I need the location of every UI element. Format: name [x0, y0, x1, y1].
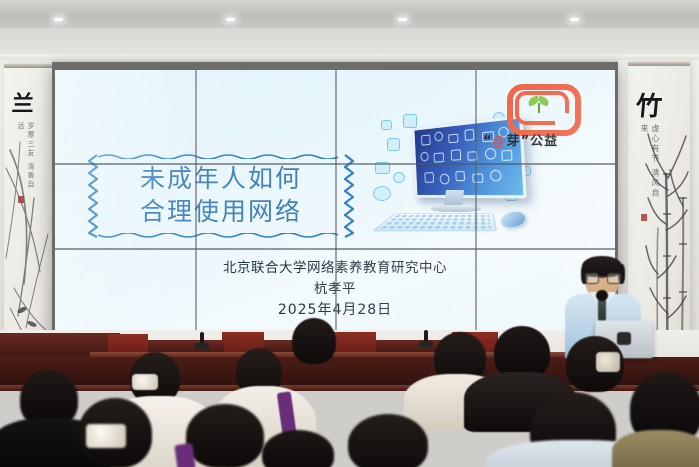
audience-head — [186, 404, 264, 467]
led-video-wall[interactable]: 未成年人如何 合理使用网络 — [55, 70, 615, 335]
hair-clip — [132, 374, 158, 390]
seal-stamp-icon — [18, 196, 24, 203]
microphone-base — [419, 341, 433, 347]
scroll-inscription: 岁寒三友 清香自远 — [16, 122, 36, 192]
panel-bezel-vertical — [335, 70, 337, 335]
uniform-scarf — [174, 443, 195, 467]
downlight-icon — [226, 18, 235, 21]
audience-head — [262, 430, 334, 467]
audience-torso — [612, 430, 699, 467]
seal-stamp-icon — [641, 214, 647, 221]
microphone-head — [596, 290, 608, 301]
ceiling-panel — [0, 0, 699, 30]
scroll-inscription: 虚心有节 清风自来 — [639, 124, 661, 206]
scroll-character-orchid: 兰 — [11, 86, 35, 118]
downlight-icon — [398, 18, 407, 21]
lecture-hall-photo: 兰 岁寒三友 清香自远 竹 虚心有节 清风自来 — [0, 0, 699, 467]
panel-bezel-horizontal — [55, 163, 615, 165]
scroll-character-bamboo: 竹 — [634, 86, 663, 123]
eyeglasses-icon — [585, 273, 619, 282]
hair-clip — [596, 352, 620, 372]
panel-bezel-horizontal — [55, 248, 615, 250]
ceiling-soffit — [0, 28, 699, 56]
bench-panel — [108, 334, 148, 354]
presentation-slide: 未成年人如何 合理使用网络 — [55, 70, 615, 335]
hair-clip — [86, 424, 126, 448]
laptop-sticker-icon — [617, 332, 631, 345]
microphone-base — [195, 343, 209, 349]
panel-bezel-vertical — [195, 70, 197, 335]
audience-head — [292, 318, 336, 364]
downlight-icon — [54, 18, 63, 21]
downlight-icon — [570, 18, 579, 21]
bench-panel — [332, 332, 376, 354]
panel-bezel-vertical — [475, 70, 477, 335]
audience-head — [348, 414, 428, 467]
scroll-rod-top — [628, 62, 690, 66]
